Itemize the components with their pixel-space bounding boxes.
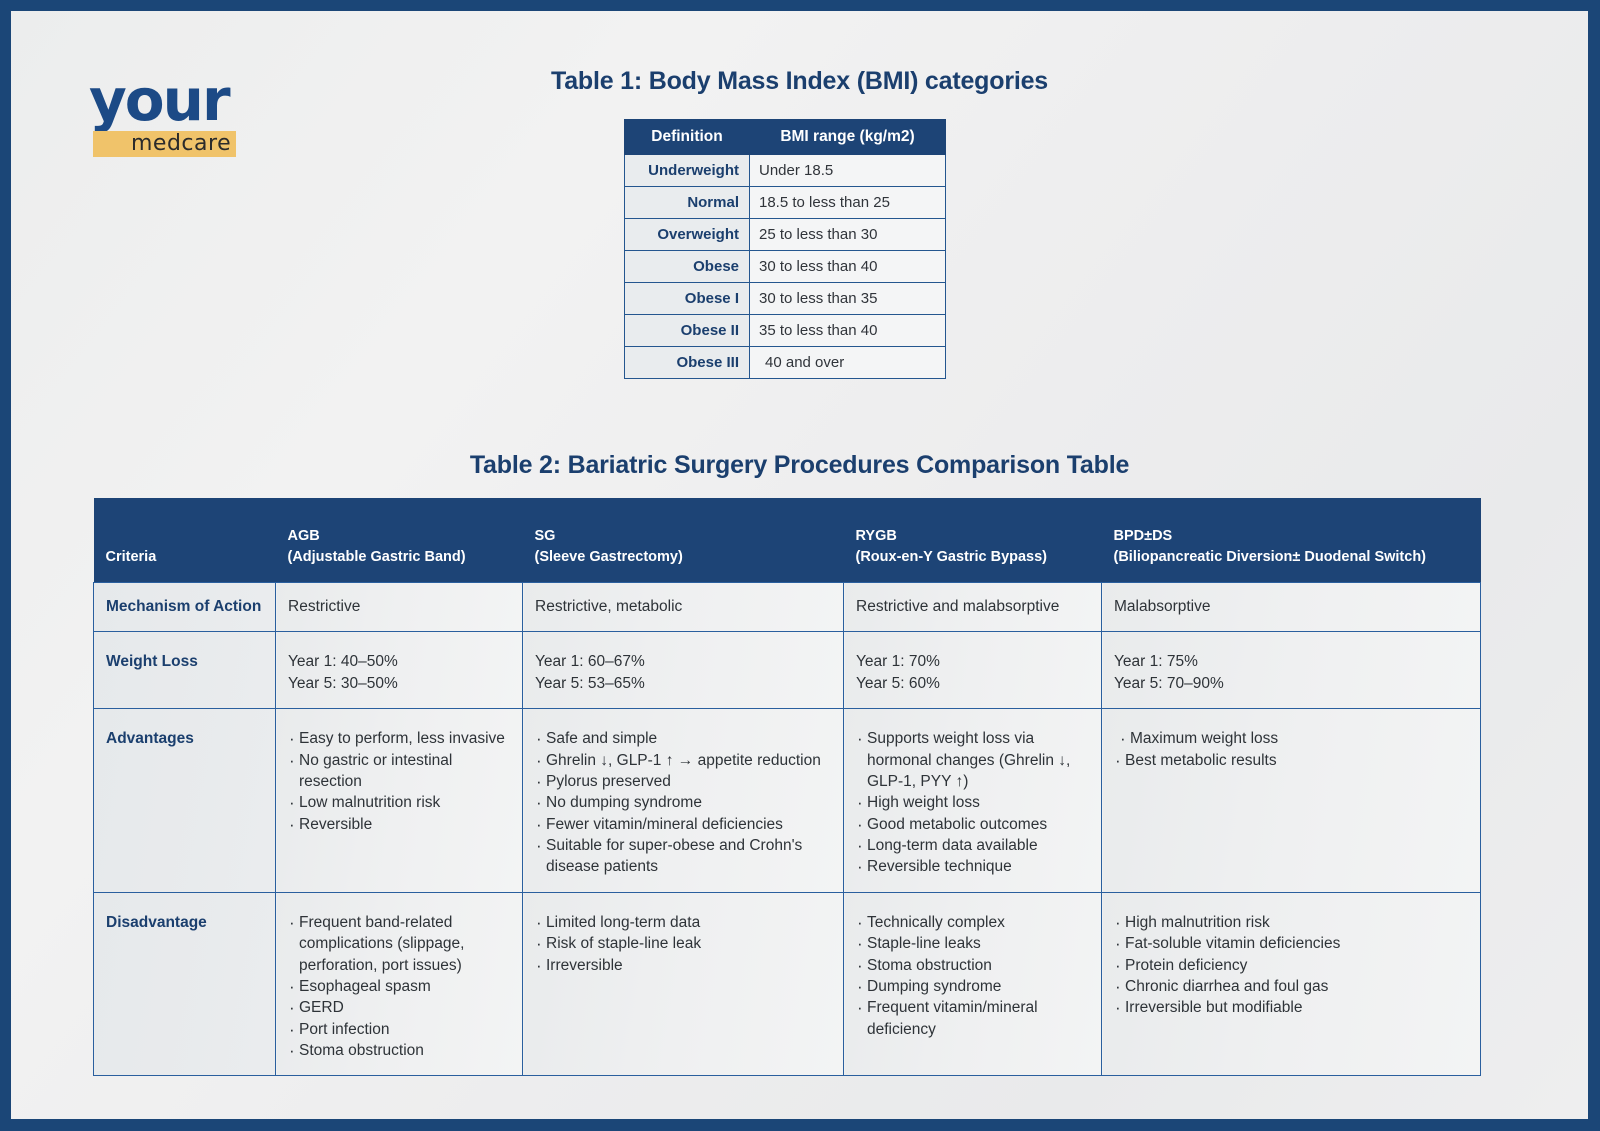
bmi-definition-obese-3: Obese III bbox=[625, 347, 750, 379]
cell-disadvantage-agb: Frequent band-related complications (sli… bbox=[276, 892, 523, 1076]
table2-header-rygb-abbr: RYGB bbox=[856, 528, 897, 544]
table-row: Obese III 40 and over bbox=[625, 347, 946, 379]
table2-header-agb-abbr: AGB bbox=[288, 528, 320, 544]
table2-header-sg: SG (Sleeve Gastrectomy) bbox=[523, 498, 844, 583]
table-row: Weight Loss Year 1: 40–50% Year 5: 30–50… bbox=[94, 632, 1481, 709]
bullet-list: Safe and simple Ghrelin ↓, GLP-1 ↑ → app… bbox=[535, 722, 831, 878]
list-item: Stoma obstruction bbox=[288, 1040, 510, 1061]
criteria-disadvantage-label: Disadvantage bbox=[106, 906, 263, 933]
cell-advantages-sg: Safe and simple Ghrelin ↓, GLP-1 ↑ → app… bbox=[523, 709, 844, 893]
list-item: Frequent vitamin/mineral deficiency bbox=[856, 997, 1089, 1040]
list-item: GERD bbox=[288, 997, 510, 1018]
list-item: Risk of staple-line leak bbox=[535, 933, 831, 954]
bmi-range-overweight: 25 to less than 30 bbox=[750, 219, 946, 251]
bmi-definition-underweight: Underweight bbox=[625, 155, 750, 187]
criteria-mechanism-of-action: Mechanism of Action bbox=[94, 583, 276, 632]
table2-header-rygb: RYGB (Roux-en-Y Gastric Bypass) bbox=[844, 498, 1102, 583]
list-item: Chronic diarrhea and foul gas bbox=[1114, 976, 1468, 997]
bmi-range-obese-1: 30 to less than 35 bbox=[750, 283, 946, 315]
bmi-definition-obese-2: Obese II bbox=[625, 315, 750, 347]
cell-line: Year 1: 60–67% bbox=[535, 651, 831, 672]
cell-mechanism-rygb: Restrictive and malabsorptive bbox=[844, 583, 1102, 632]
bmi-definition-obese: Obese bbox=[625, 251, 750, 283]
cell-mechanism-agb: Restrictive bbox=[276, 583, 523, 632]
table1-title: Table 1: Body Mass Index (BMI) categorie… bbox=[11, 67, 1588, 96]
bmi-categories-table: Definition BMI range (kg/m2) Underweight… bbox=[624, 119, 946, 379]
list-item: Limited long-term data bbox=[535, 912, 831, 933]
list-item: Supports weight loss via hormonal change… bbox=[856, 728, 1089, 792]
list-item: Esophageal spasm bbox=[288, 976, 510, 997]
cell-line: Year 1: 70% bbox=[856, 651, 1089, 672]
table1-header-definition: Definition bbox=[625, 120, 750, 155]
list-item: Good metabolic outcomes bbox=[856, 814, 1089, 835]
table-row: Normal 18.5 to less than 25 bbox=[625, 187, 946, 219]
list-item: No dumping syndrome bbox=[535, 792, 831, 813]
table2-header-bpd: BPD±DS (Biliopancreatic Diversion± Duode… bbox=[1102, 498, 1481, 583]
list-item: Staple-line leaks bbox=[856, 933, 1089, 954]
cell-disadvantage-sg: Limited long-term data Risk of staple-li… bbox=[523, 892, 844, 1076]
table-row: Mechanism of Action Restrictive Restrict… bbox=[94, 583, 1481, 632]
list-item: Best metabolic results bbox=[1114, 750, 1468, 771]
list-item: Maximum weight loss bbox=[1114, 728, 1468, 749]
table2-header-agb-full: (Adjustable Gastric Band) bbox=[288, 547, 511, 568]
table2-title: Table 2: Bariatric Surgery Procedures Co… bbox=[11, 451, 1588, 480]
cell-weightloss-rygb: Year 1: 70% Year 5: 60% bbox=[844, 632, 1102, 709]
list-item: Dumping syndrome bbox=[856, 976, 1089, 997]
bullet-list: Maximum weight loss Best metabolic resul… bbox=[1114, 722, 1468, 771]
cell-mechanism-bpd: Malabsorptive bbox=[1102, 583, 1481, 632]
table-row: Underweight Under 18.5 bbox=[625, 155, 946, 187]
list-item: Technically complex bbox=[856, 912, 1089, 933]
criteria-weight-loss-label: Weight Loss bbox=[106, 645, 263, 672]
list-item: Irreversible but modifiable bbox=[1114, 997, 1468, 1018]
cell-advantages-agb: Easy to perform, less invasive No gastri… bbox=[276, 709, 523, 893]
document-page: your medcare Table 1: Body Mass Index (B… bbox=[11, 11, 1588, 1119]
list-item: Long-term data available bbox=[856, 835, 1089, 856]
criteria-advantages: Advantages bbox=[94, 709, 276, 893]
table2-header-sg-full: (Sleeve Gastrectomy) bbox=[535, 547, 832, 568]
bullet-list: Technically complex Staple-line leaks St… bbox=[856, 906, 1089, 1040]
table2-header-agb: AGB (Adjustable Gastric Band) bbox=[276, 498, 523, 583]
table2-header-criteria-abbr: Criteria bbox=[106, 549, 157, 565]
table2-header-row: Criteria AGB (Adjustable Gastric Band) S… bbox=[94, 498, 1481, 583]
list-item: Pylorus preserved bbox=[535, 771, 831, 792]
table-row: Disadvantage Frequent band-related compl… bbox=[94, 892, 1481, 1076]
cell-disadvantage-bpd: High malnutrition risk Fat-soluble vitam… bbox=[1102, 892, 1481, 1076]
criteria-advantages-label: Advantages bbox=[106, 722, 263, 749]
cell-line: Year 1: 40–50% bbox=[288, 651, 510, 672]
list-item: High malnutrition risk bbox=[1114, 912, 1468, 933]
cell-line: Malabsorptive bbox=[1114, 596, 1468, 617]
bullet-list: High malnutrition risk Fat-soluble vitam… bbox=[1114, 906, 1468, 1019]
bullet-list: Frequent band-related complications (sli… bbox=[288, 906, 510, 1062]
list-item: Safe and simple bbox=[535, 728, 831, 749]
cell-line: Year 5: 70–90% bbox=[1114, 673, 1468, 694]
bullet-list: Easy to perform, less invasive No gastri… bbox=[288, 722, 510, 835]
cell-line: Year 5: 30–50% bbox=[288, 673, 510, 694]
bmi-range-underweight: Under 18.5 bbox=[750, 155, 946, 187]
list-item: Frequent band-related complications (sli… bbox=[288, 912, 510, 976]
table-row: Advantages Easy to perform, less invasiv… bbox=[94, 709, 1481, 893]
list-item: Fat-soluble vitamin deficiencies bbox=[1114, 933, 1468, 954]
cell-line: Year 5: 53–65% bbox=[535, 673, 831, 694]
cell-advantages-rygb: Supports weight loss via hormonal change… bbox=[844, 709, 1102, 893]
table-row: Obese I 30 to less than 35 bbox=[625, 283, 946, 315]
logo-wordmark-secondary: medcare bbox=[131, 131, 231, 157]
table-row: Overweight 25 to less than 30 bbox=[625, 219, 946, 251]
list-item: Easy to perform, less invasive bbox=[288, 728, 510, 749]
table-row: Obese II 35 to less than 40 bbox=[625, 315, 946, 347]
bmi-range-obese: 30 to less than 40 bbox=[750, 251, 946, 283]
list-item: Reversible bbox=[288, 814, 510, 835]
cell-line: Restrictive and malabsorptive bbox=[856, 596, 1089, 617]
table2-header-bpd-full: (Biliopancreatic Diversion± Duodenal Swi… bbox=[1114, 547, 1469, 568]
bmi-range-obese-2: 35 to less than 40 bbox=[750, 315, 946, 347]
bullet-list: Limited long-term data Risk of staple-li… bbox=[535, 906, 831, 976]
cell-weightloss-bpd: Year 1: 75% Year 5: 70–90% bbox=[1102, 632, 1481, 709]
bmi-definition-overweight: Overweight bbox=[625, 219, 750, 251]
bmi-definition-normal: Normal bbox=[625, 187, 750, 219]
cell-line: Year 5: 60% bbox=[856, 673, 1089, 694]
list-item: Reversible technique bbox=[856, 856, 1089, 877]
table1-header-row: Definition BMI range (kg/m2) bbox=[625, 120, 946, 155]
cell-weightloss-sg: Year 1: 60–67% Year 5: 53–65% bbox=[523, 632, 844, 709]
table2-header-bpd-abbr: BPD±DS bbox=[1114, 528, 1173, 544]
cell-advantages-bpd: Maximum weight loss Best metabolic resul… bbox=[1102, 709, 1481, 893]
criteria-weight-loss: Weight Loss bbox=[94, 632, 276, 709]
list-item: Suitable for super-obese and Crohn's dis… bbox=[535, 835, 831, 878]
table-row: Obese 30 to less than 40 bbox=[625, 251, 946, 283]
list-item: High weight loss bbox=[856, 792, 1089, 813]
list-item: Irreversible bbox=[535, 955, 831, 976]
list-item: No gastric or intestinal resection bbox=[288, 750, 510, 793]
cell-mechanism-sg: Restrictive, metabolic bbox=[523, 583, 844, 632]
table1-header-bmi-range: BMI range (kg/m2) bbox=[750, 120, 946, 155]
list-item: Protein deficiency bbox=[1114, 955, 1468, 976]
bmi-range-obese-3: 40 and over bbox=[750, 347, 946, 379]
cell-line: Restrictive bbox=[288, 596, 510, 617]
bmi-definition-obese-1: Obese I bbox=[625, 283, 750, 315]
list-item: Ghrelin ↓, GLP-1 ↑ → appetite reduction bbox=[535, 750, 831, 771]
cell-weightloss-agb: Year 1: 40–50% Year 5: 30–50% bbox=[276, 632, 523, 709]
bariatric-comparison-table: Criteria AGB (Adjustable Gastric Band) S… bbox=[93, 498, 1481, 1076]
criteria-disadvantage: Disadvantage bbox=[94, 892, 276, 1076]
cell-line: Year 1: 75% bbox=[1114, 651, 1468, 672]
cell-line: Restrictive, metabolic bbox=[535, 596, 831, 617]
table2-header-rygb-full: (Roux-en-Y Gastric Bypass) bbox=[856, 547, 1090, 568]
table2-header-criteria: Criteria bbox=[94, 498, 276, 583]
bullet-list: Supports weight loss via hormonal change… bbox=[856, 722, 1089, 878]
bmi-range-normal: 18.5 to less than 25 bbox=[750, 187, 946, 219]
table2-header-sg-abbr: SG bbox=[535, 528, 556, 544]
page-frame: your medcare Table 1: Body Mass Index (B… bbox=[0, 0, 1600, 1131]
list-item: Low malnutrition risk bbox=[288, 792, 510, 813]
list-item: Stoma obstruction bbox=[856, 955, 1089, 976]
cell-disadvantage-rygb: Technically complex Staple-line leaks St… bbox=[844, 892, 1102, 1076]
list-item: Fewer vitamin/mineral deficiencies bbox=[535, 814, 831, 835]
list-item: Port infection bbox=[288, 1019, 510, 1040]
